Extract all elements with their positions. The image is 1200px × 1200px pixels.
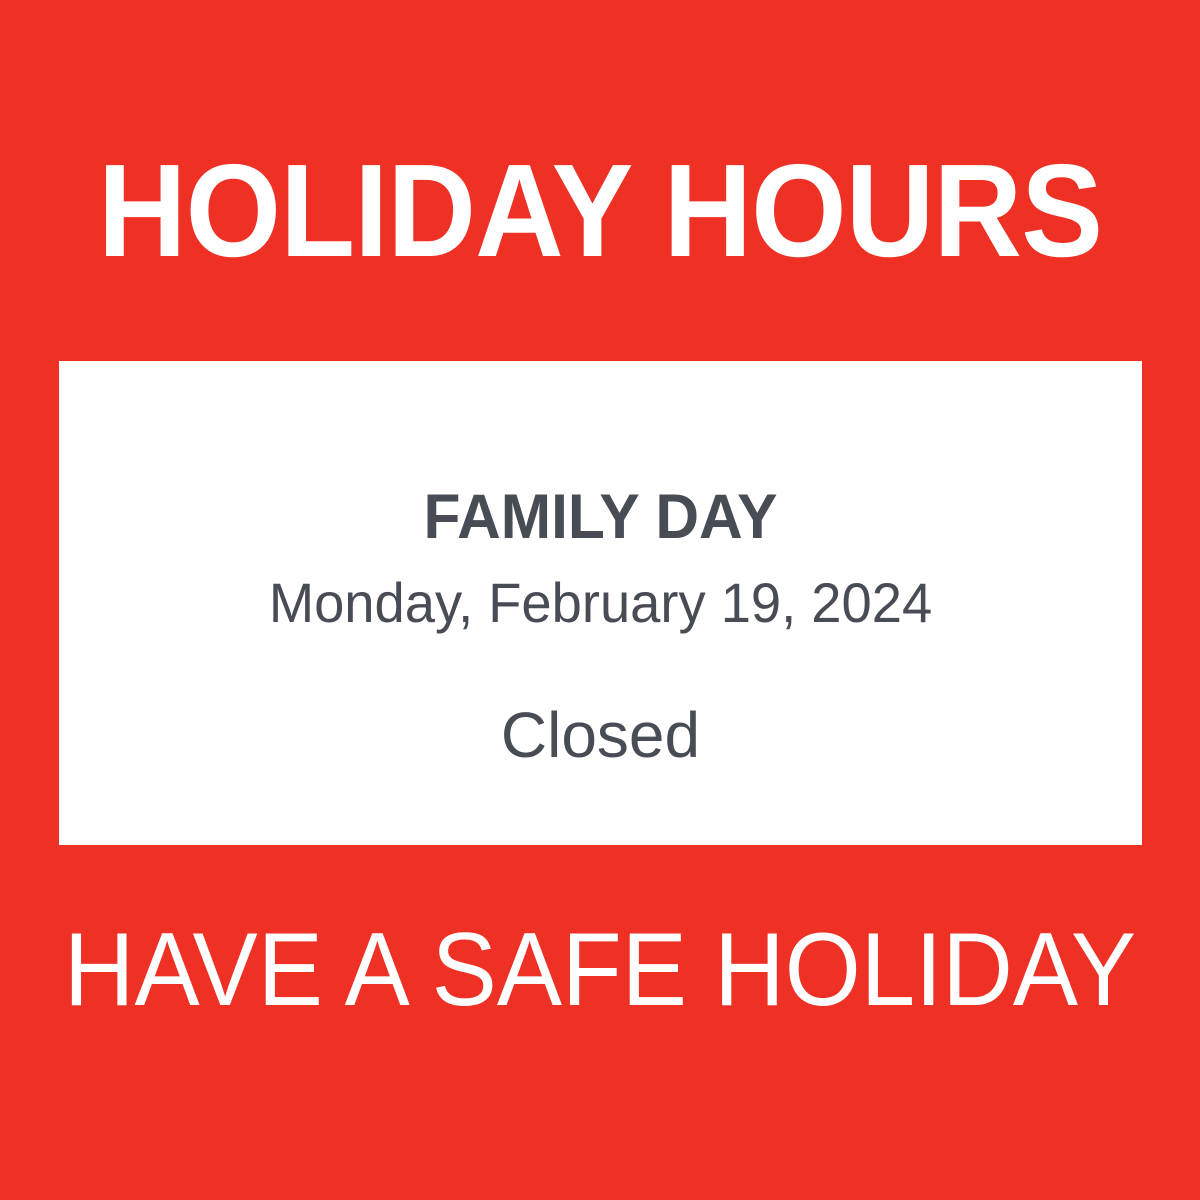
- holiday-date: Monday, February 19, 2024: [75, 575, 1126, 631]
- holiday-info-card: FAMILY DAY Monday, February 19, 2024 Clo…: [59, 361, 1142, 845]
- holiday-info-card-content: FAMILY DAY Monday, February 19, 2024 Clo…: [59, 361, 1142, 767]
- holiday-name: FAMILY DAY: [81, 486, 1121, 549]
- holiday-hours-poster: HOLIDAY HOURS FAMILY DAY Monday, Februar…: [0, 0, 1200, 1200]
- page-title: HOLIDAY HOURS: [42, 145, 1158, 277]
- status-badge: Closed: [59, 703, 1142, 767]
- footer-message: HAVE A SAFE HOLIDAY: [36, 918, 1164, 1022]
